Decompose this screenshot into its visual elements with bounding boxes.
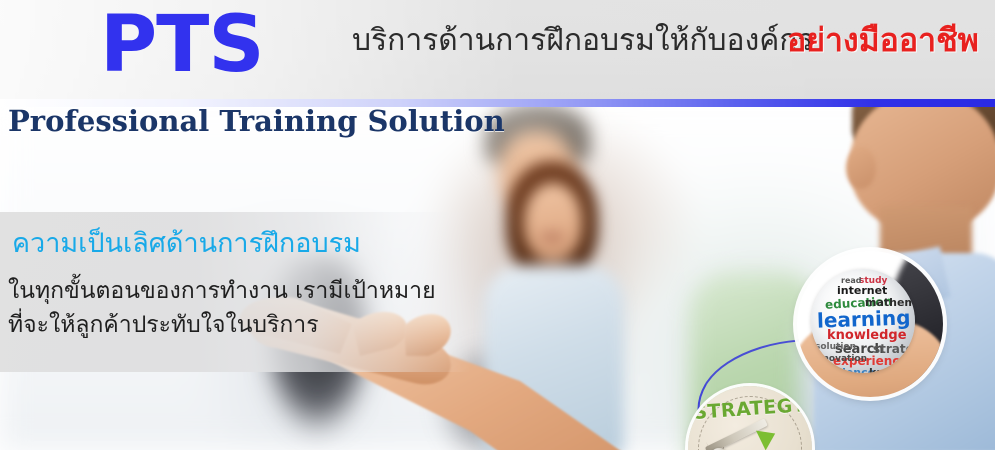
woman-torso bbox=[484, 265, 624, 450]
sphere-word: innovation bbox=[813, 355, 867, 364]
woman-face bbox=[524, 183, 582, 261]
sphere-word: knowledge bbox=[827, 329, 907, 342]
sphere-word: internet bbox=[837, 285, 887, 296]
learning-sphere-inset: learningknowledgesearchstrategyexperienc… bbox=[797, 251, 943, 397]
sphere-word: knowledge bbox=[869, 367, 915, 373]
header-thai-highlight: อย่างมืออาชีพ bbox=[787, 24, 979, 56]
pts-logo[interactable]: PTS bbox=[100, 6, 264, 84]
sphere-word: mathematics bbox=[865, 297, 915, 308]
panel-body-line-2: ที่จะให้ลูกค้าประทับใจในบริการ bbox=[8, 314, 319, 337]
message-panel: ความเป็นเลิศด้านการฝึกอบรม ในทุกขั้นตอนข… bbox=[0, 212, 470, 372]
sphere-word: solution bbox=[815, 343, 856, 352]
background-person-woman bbox=[478, 161, 628, 450]
sphere-word: study bbox=[859, 277, 887, 286]
english-tagline: Professional Training Solution bbox=[8, 107, 505, 136]
word-cloud-sphere: learningknowledgesearchstrategyexperienc… bbox=[811, 269, 915, 373]
pts-banner: STRATEGY learnin bbox=[0, 0, 995, 450]
foreground-ear bbox=[846, 147, 876, 189]
panel-heading: ความเป็นเลิศด้านการฝึกอบรม bbox=[12, 230, 361, 257]
sphere-word: read bbox=[841, 277, 862, 285]
panel-body-line-1: ในทุกขั้นตอนของการทำงาน เรามีเป้าหมาย bbox=[8, 280, 436, 303]
header-thai-headline: บริการด้านการฝึกอบรมให้กับองค์กร bbox=[352, 26, 814, 56]
